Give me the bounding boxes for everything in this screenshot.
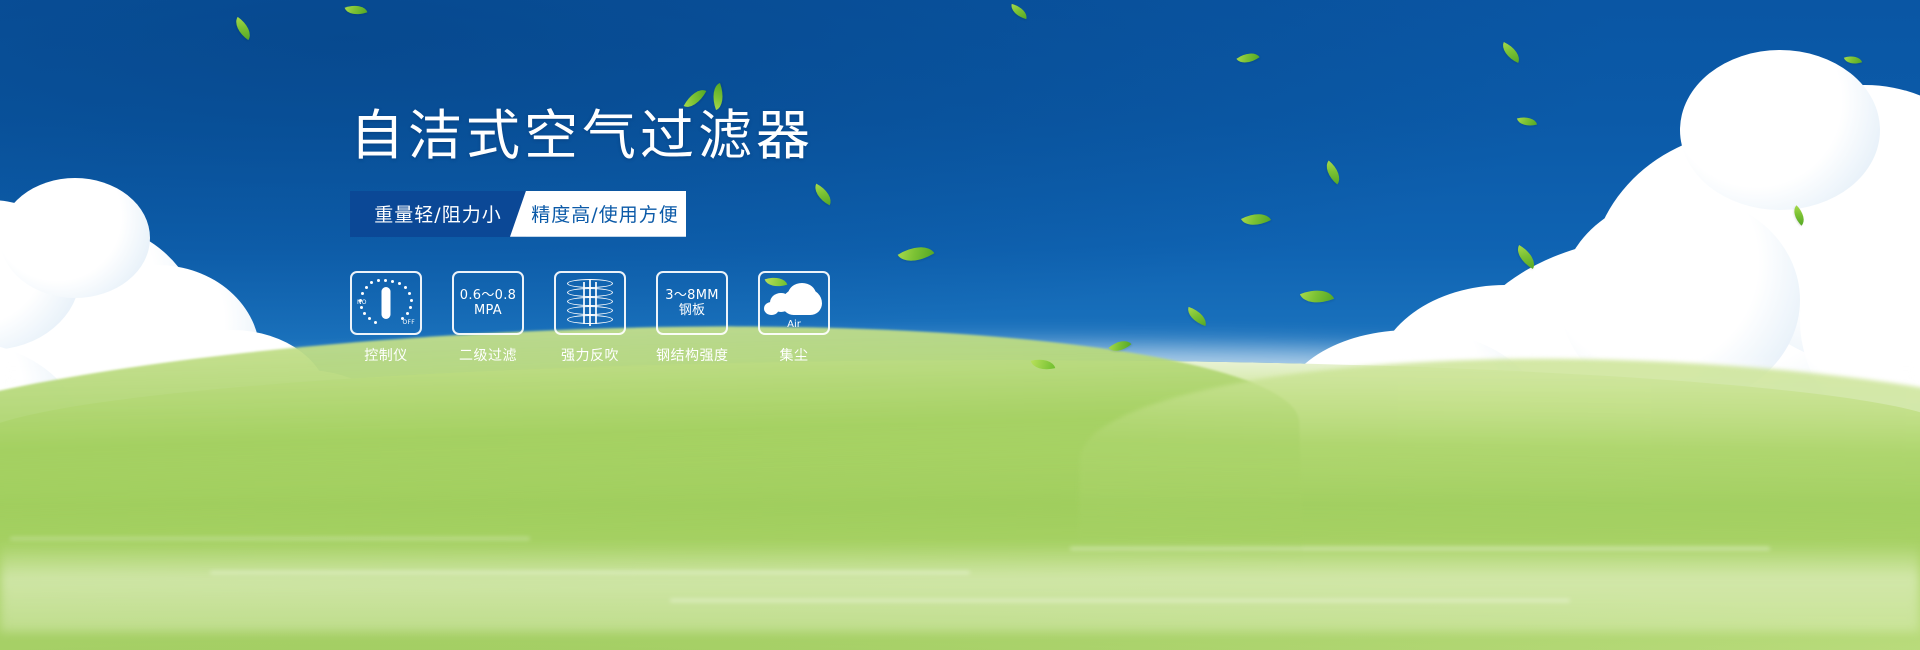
grass-path [0,542,1920,632]
feature-label: 二级过滤 [452,345,524,365]
feature-item-control-instrument[interactable]: NO OFF 控制仪 [350,271,422,365]
tab-highprecision-easyuse[interactable]: 精度高/使用方便 [510,191,686,237]
feature-icon-box [554,271,626,335]
feature-icon-box: Air [758,271,830,335]
feature-icon-box: NO OFF [350,271,422,335]
feature-item-secondary-filtration[interactable]: 0.6～0.8 MPA 二级过滤 [452,271,524,365]
feature-label: 集尘 [758,345,830,365]
cloud-puff [1680,50,1880,210]
feature-item-dust-collection[interactable]: Air 集尘 [758,271,830,365]
knob-label-no: NO [357,299,367,306]
feature-list: NO OFF 控制仪 0.6～0.8 MPA 二级过滤 [350,271,1050,365]
feature-label: 控制仪 [350,345,422,365]
control-knob-icon: NO OFF [358,277,414,329]
banner-content: 自洁式空气过滤器 重量轻/阻力小 精度高/使用方便 [350,108,1050,365]
knob-label-off: OFF [402,319,415,326]
feature-label: 强力反吹 [554,345,626,365]
feature-icon-box: 3～8MM 钢板 [656,271,728,335]
floating-leaf-icon [230,17,255,40]
knob-pointer [382,287,391,319]
tab-bar: 重量轻/阻力小 精度高/使用方便 [350,191,1050,237]
tab-lightweight-lowresistance[interactable]: 重量轻/阻力小 [350,191,526,237]
filter-cartridge-icon [567,279,613,327]
hero-banner: 自洁式空气过滤器 重量轻/阻力小 精度高/使用方便 [0,0,1920,650]
floating-leaf-icon [1009,4,1029,19]
feature-item-strong-backblow[interactable]: 强力反吹 [554,271,626,365]
steel-plate-text-icon: 3～8MM 钢板 [665,288,718,318]
feature-item-steel-strength[interactable]: 3～8MM 钢板 钢结构强度 [656,271,728,365]
feature-icon-box: 0.6～0.8 MPA [452,271,524,335]
air-cloud-icon: Air [764,278,824,328]
air-label: Air [764,319,824,330]
floating-leaf-icon [345,1,368,19]
page-title: 自洁式空气过滤器 [350,108,1050,165]
feature-label: 钢结构强度 [656,345,728,365]
pressure-text-icon: 0.6～0.8 MPA [460,288,516,318]
cloud-puff [0,178,150,298]
leaf-icon [765,273,788,291]
